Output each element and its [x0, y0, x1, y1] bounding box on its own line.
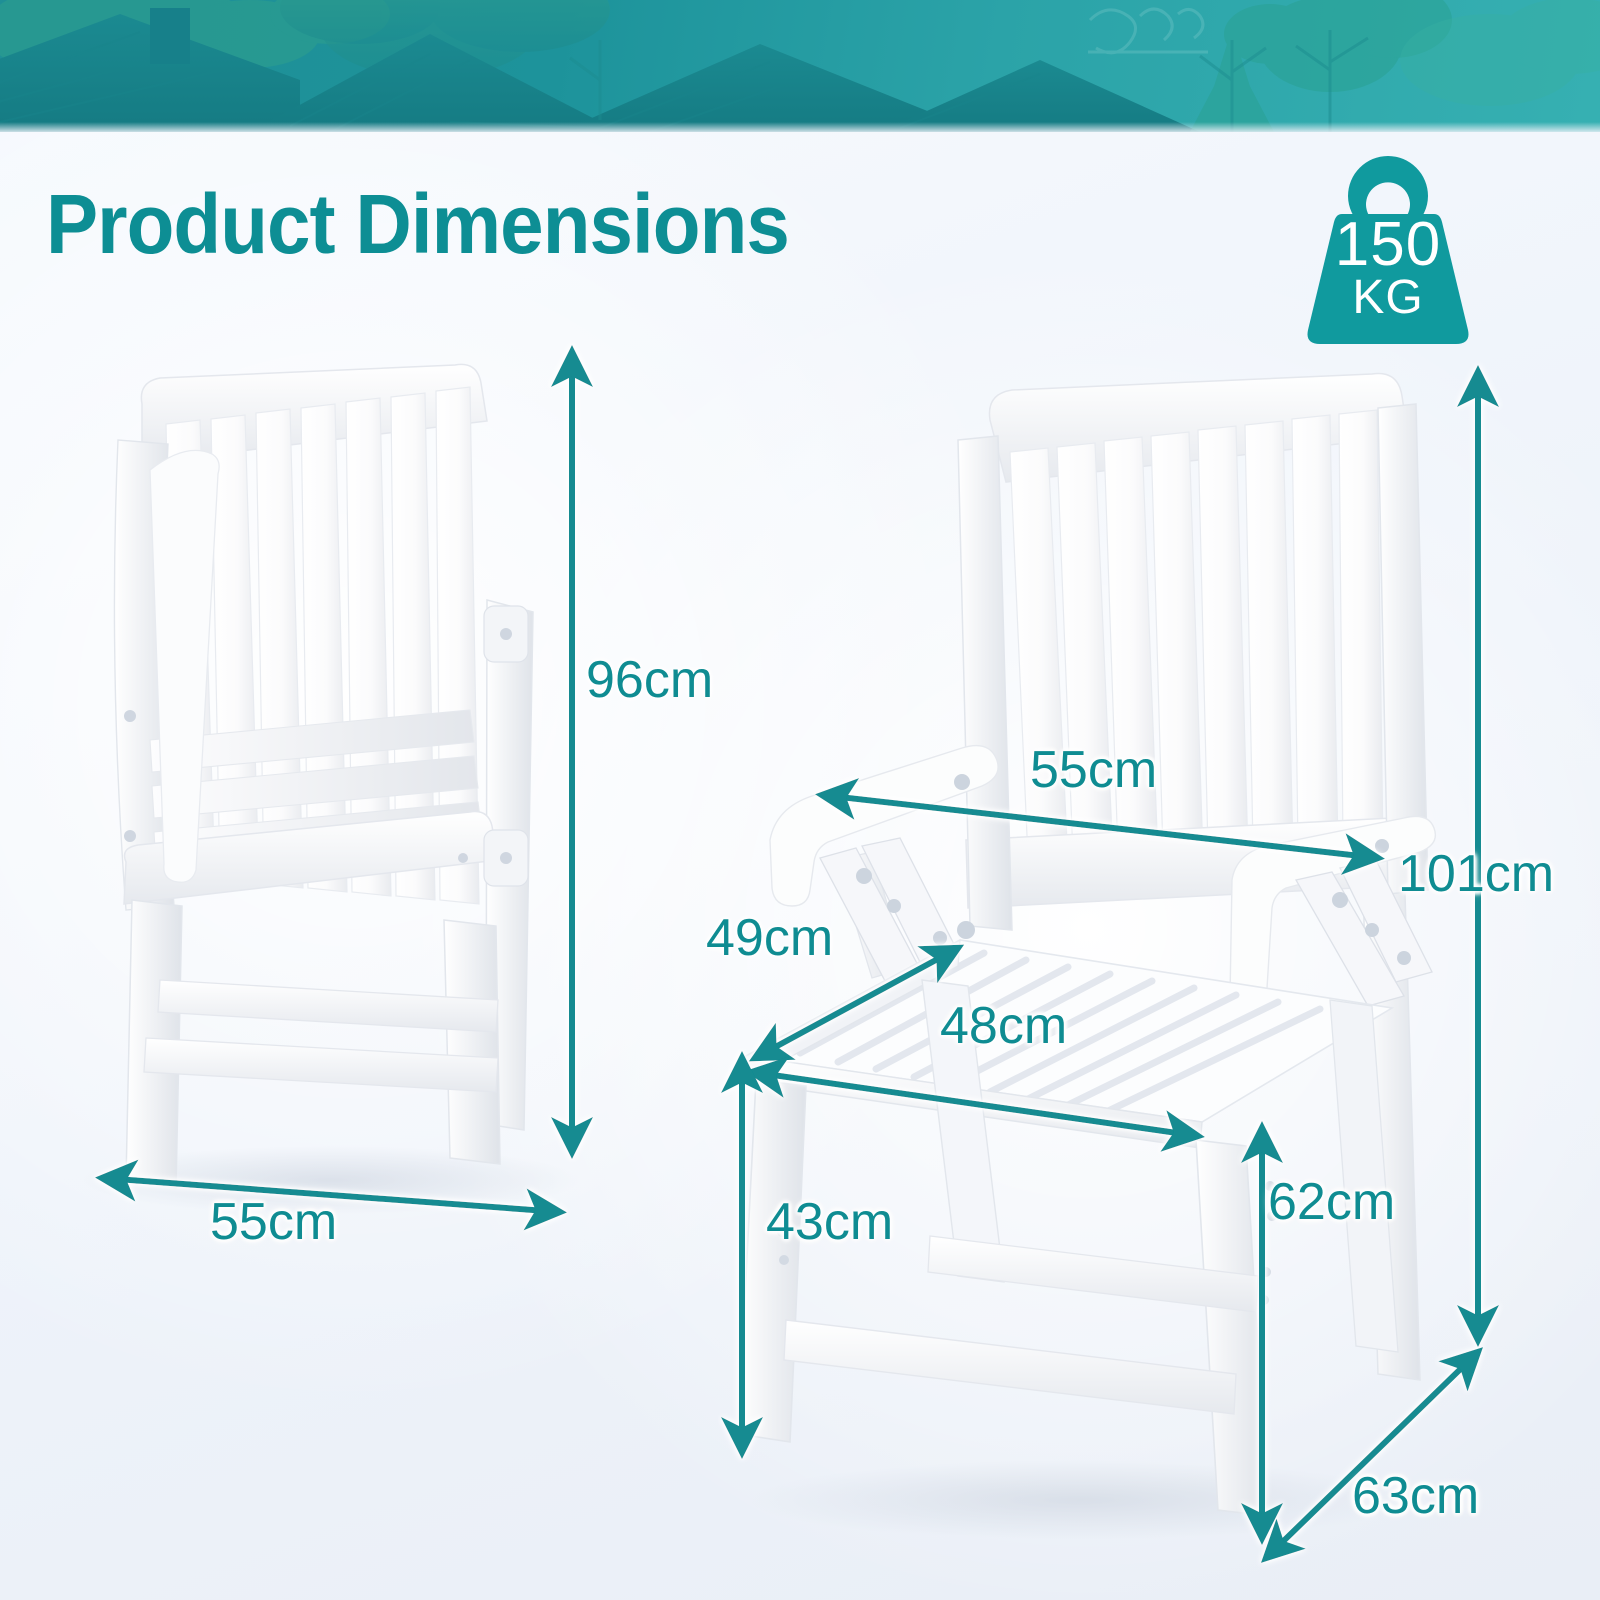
dimension-label-63cm: 63cm: [1352, 1470, 1479, 1522]
dimension-label-43cm: 43cm: [766, 1196, 893, 1248]
infographic-canvas: Product Dimensions 150 KG: [0, 0, 1600, 1600]
dimension-label-folded-55cm: 55cm: [210, 1196, 337, 1248]
dimension-label-49cm: 49cm: [706, 912, 833, 964]
dimension-label-back-55cm: 55cm: [1030, 744, 1157, 796]
dimension-label-96cm: 96cm: [586, 654, 713, 706]
dimension-label-62cm: 62cm: [1268, 1176, 1395, 1228]
dimension-label-101cm: 101cm: [1398, 848, 1554, 900]
dimension-labels: 96cm 55cm 55cm 49cm 48cm 43cm 101cm 62cm…: [0, 0, 1600, 1600]
dimension-label-48cm: 48cm: [940, 1000, 1067, 1052]
